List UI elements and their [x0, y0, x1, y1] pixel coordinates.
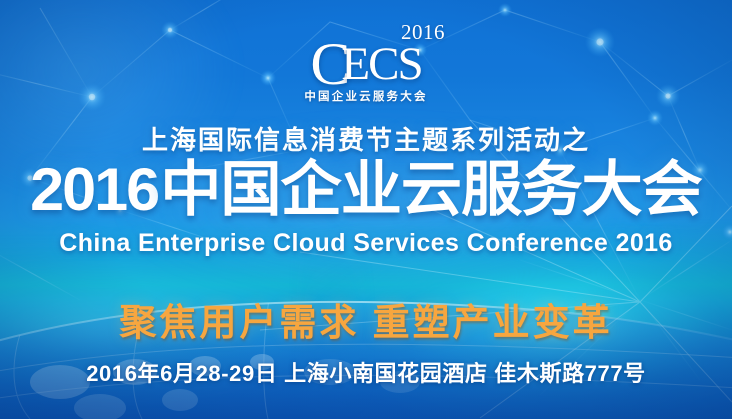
main-title-year: 2016 — [30, 156, 158, 223]
cecs-logo: 2016 CECS 中国企业云服务大会 — [0, 22, 732, 106]
logo-wordmark: CECS — [281, 34, 451, 94]
conference-banner: 2016 CECS 中国企业云服务大会 上海国际信息消费节主题系列活动之 201… — [0, 0, 732, 419]
main-title-text: 中国企业云服务大会 — [160, 156, 702, 223]
banner-content: 2016 CECS 中国企业云服务大会 上海国际信息消费节主题系列活动之 201… — [0, 0, 732, 419]
logo-letters-ecs: ECS — [341, 38, 421, 90]
english-title: China Enterprise Cloud Services Conferen… — [0, 229, 732, 258]
main-title: 2016中国企业云服务大会 — [0, 158, 732, 222]
pretitle-text: 上海国际信息消费节主题系列活动之 — [0, 120, 732, 157]
date-venue-text: 2016年6月28-29日 上海小南国花园酒店 佳木斯路777号 — [0, 356, 732, 388]
logo-subtitle: 中国企业云服务大会 — [281, 88, 451, 104]
slogan-text: 聚焦用户需求 重塑产业变革 — [0, 292, 732, 346]
